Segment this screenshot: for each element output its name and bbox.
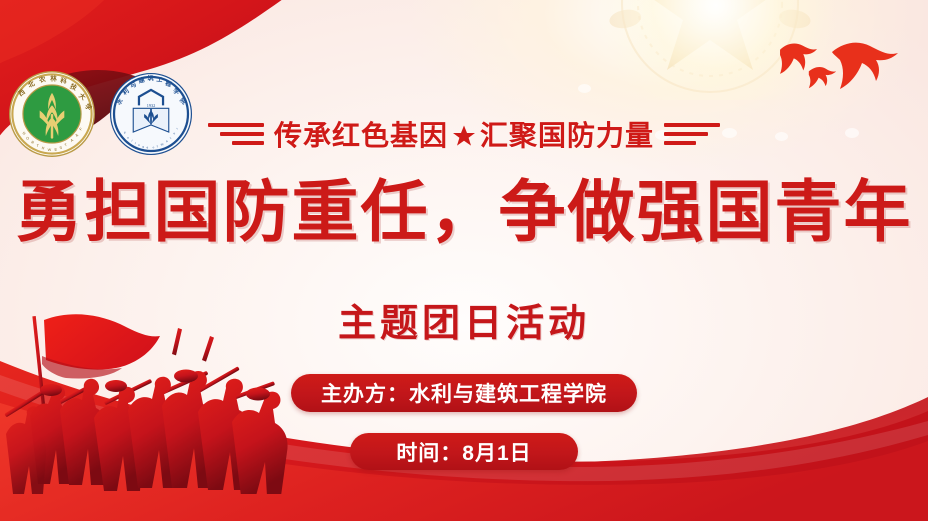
time-badge: 时间：8月1日 (350, 433, 577, 470)
poster-content: 传承红色基因 汇聚国防力量 勇担国防重任，争做强国青年 主题团日活动 主办方：水… (0, 0, 928, 521)
sub-title: 主题团日活动 (0, 292, 928, 347)
main-title: 勇担国防重任，争做强国青年 (0, 175, 928, 250)
poster-canvas: 西 北 农 林 科 技 大 学 N O R T H W E S T A & (0, 0, 928, 521)
host-badge: 主办方：水利与建筑工程学院 (291, 374, 637, 412)
info-badges: 主办方：水利与建筑工程学院 时间：8月1日 (0, 374, 928, 470)
red-star-icon (452, 124, 476, 148)
eyebrow-text: 传承红色基因 汇聚国防力量 (274, 114, 654, 154)
deco-lines-right (664, 123, 720, 145)
eyebrow-text-left: 传承红色基因 (274, 114, 448, 154)
eyebrow-text-right: 汇聚国防力量 (480, 114, 654, 154)
deco-lines-left (208, 123, 264, 145)
eyebrow-line: 传承红色基因 汇聚国防力量 (0, 114, 928, 154)
